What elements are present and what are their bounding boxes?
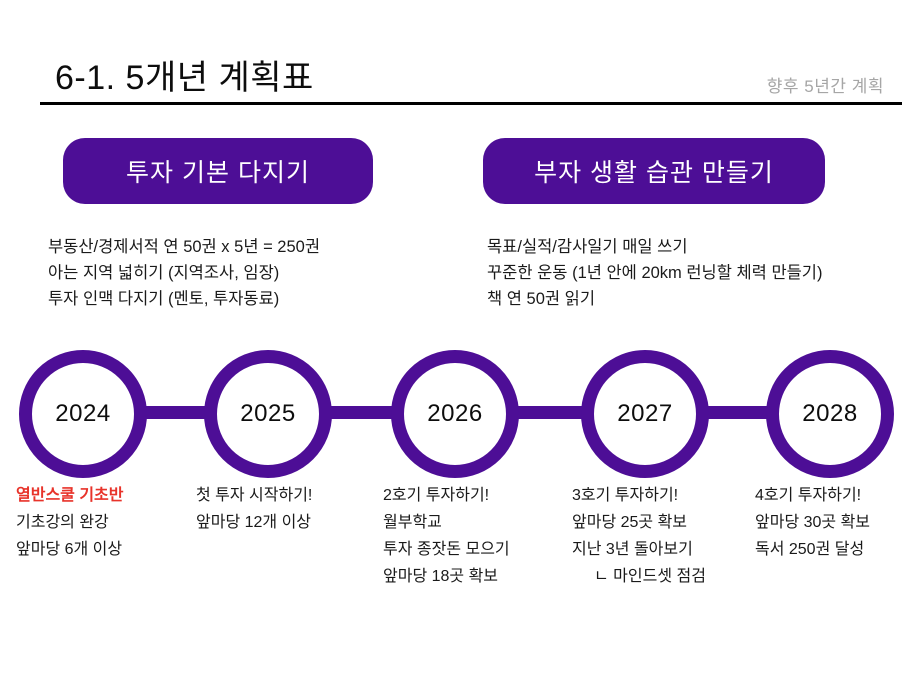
timeline-node-2026[interactable]: 2026 (391, 350, 519, 478)
timeline-details-2026: 2호기 투자하기!월부학교투자 종잣돈 모으기앞마당 18곳 확보 (383, 482, 510, 590)
page-title: 6-1. 5개년 계획표 (55, 50, 314, 99)
timeline-connector (705, 406, 770, 419)
section-body-rich-habits: 목표/실적/감사일기 매일 쓰기꾸준한 운동 (1년 안에 20km 런닝할 체… (487, 234, 822, 312)
timeline-detail-line: 앞마당 12개 이상 (196, 509, 312, 536)
timeline-detail-line: 독서 250권 달성 (755, 536, 870, 563)
timeline-connector (328, 406, 395, 419)
bullet-line: 투자 인맥 다지기 (멘토, 투자동료) (48, 286, 320, 312)
bullet-line: 책 연 50권 읽기 (487, 286, 822, 312)
timeline-connector (143, 406, 208, 419)
timeline-detail-line: 기초강의 완강 (16, 509, 124, 536)
timeline-details-2027: 3호기 투자하기!앞마당 25곳 확보지난 3년 돌아보기ㄴ 마인드셋 점검 (572, 482, 706, 590)
timeline-node-2024[interactable]: 2024 (19, 350, 147, 478)
timeline-node-2028[interactable]: 2028 (766, 350, 894, 478)
timeline-node-year: 2025 (240, 400, 295, 428)
timeline-detail-line: 앞마당 6개 이상 (16, 536, 124, 563)
timeline-details-2024: 열반스쿨 기초반기초강의 완강앞마당 6개 이상 (16, 482, 124, 563)
five-year-timeline: 20242025202620272028 (0, 346, 912, 486)
slide-canvas: 6-1. 5개년 계획표 향후 5년간 계획 투자 기본 다지기 부자 생활 습… (0, 0, 912, 684)
timeline-detail-line: 앞마당 25곳 확보 (572, 509, 706, 536)
timeline-node-2027[interactable]: 2027 (581, 350, 709, 478)
timeline-node-year: 2028 (802, 400, 857, 428)
timeline-detail-line: 투자 종잣돈 모으기 (383, 536, 510, 563)
bullet-line: 부동산/경제서적 연 50권 x 5년 = 250권 (48, 234, 320, 260)
timeline-node-year: 2026 (427, 400, 482, 428)
section-heading-label: 투자 기본 다지기 (126, 153, 310, 189)
timeline-details-2028: 4호기 투자하기!앞마당 30곳 확보독서 250권 달성 (755, 482, 870, 563)
timeline-detail-line: 지난 3년 돌아보기 (572, 536, 706, 563)
timeline-detail-line: 월부학교 (383, 509, 510, 536)
timeline-node-year: 2024 (55, 400, 110, 428)
timeline-node-year: 2027 (617, 400, 672, 428)
timeline-detail-line: 첫 투자 시작하기! (196, 482, 312, 509)
bullet-line: 꾸준한 운동 (1년 안에 20km 런닝할 체력 만들기) (487, 260, 822, 286)
bullet-line: 목표/실적/감사일기 매일 쓰기 (487, 234, 822, 260)
timeline-connector (515, 406, 585, 419)
section-heading-label: 부자 생활 습관 만들기 (534, 153, 774, 189)
title-divider (40, 102, 902, 105)
timeline-detail-line: 4호기 투자하기! (755, 482, 870, 509)
timeline-detail-highlight: 열반스쿨 기초반 (16, 482, 124, 509)
section-body-investment-basics: 부동산/경제서적 연 50권 x 5년 = 250권아는 지역 넓히기 (지역조… (48, 234, 320, 312)
timeline-details-2025: 첫 투자 시작하기!앞마당 12개 이상 (196, 482, 312, 536)
section-heading-rich-habits: 부자 생활 습관 만들기 (483, 138, 825, 204)
section-heading-investment-basics: 투자 기본 다지기 (63, 138, 373, 204)
timeline-detail-line: 2호기 투자하기! (383, 482, 510, 509)
bullet-line: 아는 지역 넓히기 (지역조사, 임장) (48, 260, 320, 286)
timeline-detail-line: 3호기 투자하기! (572, 482, 706, 509)
timeline-detail-line: 앞마당 30곳 확보 (755, 509, 870, 536)
timeline-detail-line: 앞마당 18곳 확보 (383, 563, 510, 590)
timeline-detail-line: ㄴ 마인드셋 점검 (572, 563, 706, 590)
timeline-node-2025[interactable]: 2025 (204, 350, 332, 478)
page-subtitle: 향후 5년간 계획 (767, 72, 884, 97)
